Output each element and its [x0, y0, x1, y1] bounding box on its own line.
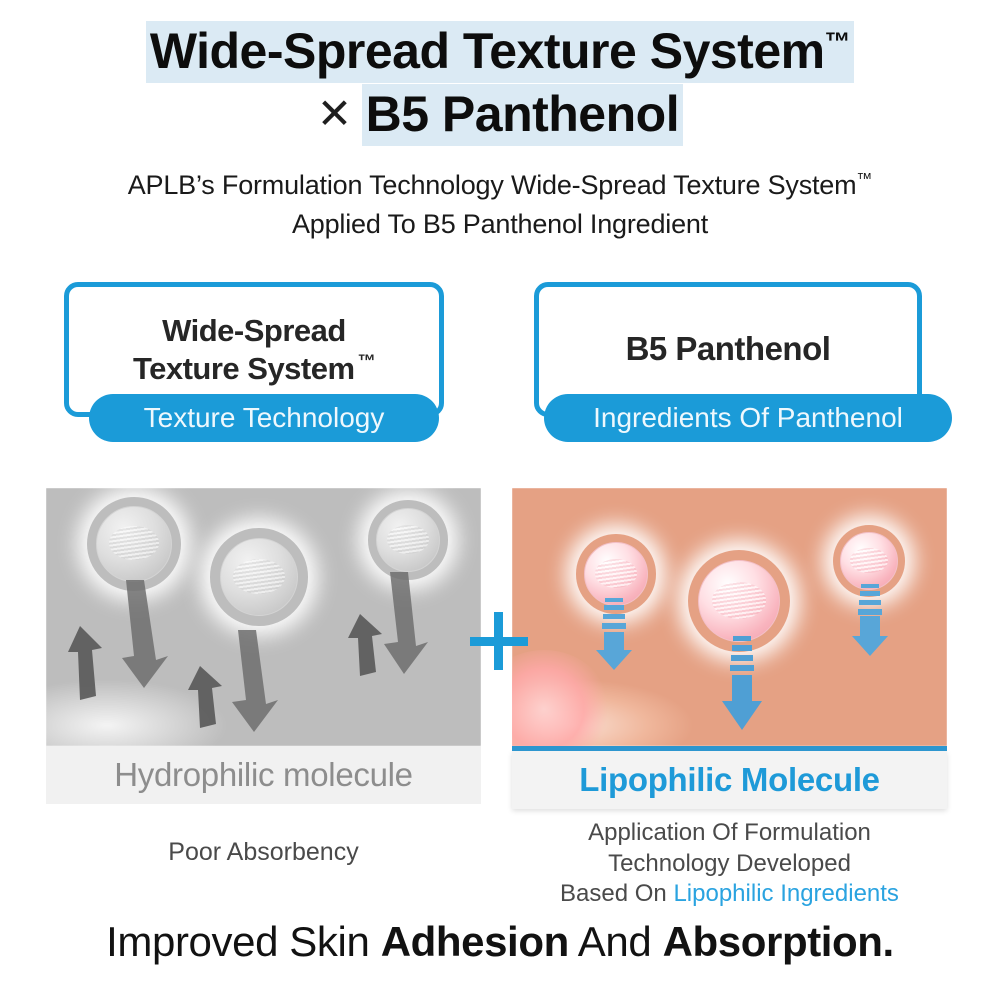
title-line-2: ✕B5 Panthenol — [0, 85, 1000, 144]
arrow-down-icon — [716, 636, 768, 734]
hydrophilic-caption: Hydrophilic molecule — [46, 746, 481, 804]
subtitle-line-2: Applied To B5 Panthenol Ingredient — [0, 205, 1000, 244]
lipophilic-caption: Lipophilic Molecule — [512, 751, 947, 809]
molecule-icon — [840, 532, 898, 590]
arrow-up-icon — [344, 614, 398, 680]
panel-hydrophilic: Hydrophilic molecule — [46, 488, 481, 804]
subtitle: APLB’s Formulation Technology Wide-Sprea… — [0, 166, 1000, 244]
trademark-symbol: ™ — [355, 351, 375, 371]
hydrophilic-note: Poor Absorbency — [46, 838, 481, 867]
title-line-1: Wide-Spread Texture System™ — [0, 22, 1000, 81]
lipophilic-note-line-1: Application Of Formulation — [512, 818, 947, 849]
footer-mid: And — [569, 918, 663, 965]
footer-bold-adhesion: Adhesion — [381, 918, 569, 965]
card-b5-panthenol-pill: Ingredients Of Panthenol — [544, 394, 952, 442]
arrow-up-icon — [184, 666, 238, 732]
footer-bold-absorption: Absorption. — [663, 918, 894, 965]
card-title-line-1: Wide-Spread — [162, 313, 346, 348]
page-title: Wide-Spread Texture System™ ✕B5 Pantheno… — [0, 22, 1000, 144]
molecule-icon — [96, 506, 172, 582]
molecule-icon — [698, 560, 780, 642]
card-title-line-2: Texture System — [133, 351, 355, 386]
molecule-icon — [220, 538, 298, 616]
title-line-2-text: B5 Panthenol — [366, 86, 679, 142]
arrow-down-icon — [848, 584, 892, 658]
lipophilic-note-line-3: Based On Lipophilic Ingredients — [512, 879, 947, 910]
molecule-icon — [584, 542, 648, 606]
cross-icon: ✕ — [317, 90, 362, 137]
subtitle-line-1: APLB’s Formulation Technology Wide-Sprea… — [0, 166, 1000, 205]
footer-statement: Improved Skin Adhesion And Absorption. — [0, 918, 1000, 966]
card-texture-system-pill: Texture Technology — [89, 394, 439, 442]
panel-lipophilic: Lipophilic Molecule — [512, 488, 947, 809]
arrow-down-icon — [592, 598, 636, 672]
title-line-1-text: Wide-Spread Texture System — [150, 23, 825, 79]
trademark-symbol: ™ — [825, 26, 851, 56]
hydrophilic-illustration — [46, 488, 481, 746]
footer-pre: Improved Skin — [106, 918, 381, 965]
formula-equation-row: Wide-Spread Texture System™ Texture Tech… — [0, 282, 1000, 472]
lipophilic-note-line-2: Technology Developed — [512, 849, 947, 880]
poster-root: Wide-Spread Texture System™ ✕B5 Pantheno… — [0, 0, 1000, 1000]
lipophilic-note: Application Of Formulation Technology De… — [512, 818, 947, 910]
plus-icon — [470, 612, 528, 670]
trademark-symbol: ™ — [856, 171, 872, 188]
molecule-icon — [376, 508, 440, 572]
arrow-up-icon — [62, 626, 122, 706]
lipophilic-note-accent: Lipophilic Ingredients — [673, 880, 898, 907]
card-texture-system-title: Wide-Spread Texture System™ — [133, 312, 375, 388]
card-b5-panthenol-title: B5 Panthenol — [626, 329, 831, 369]
lipophilic-illustration — [512, 488, 947, 751]
